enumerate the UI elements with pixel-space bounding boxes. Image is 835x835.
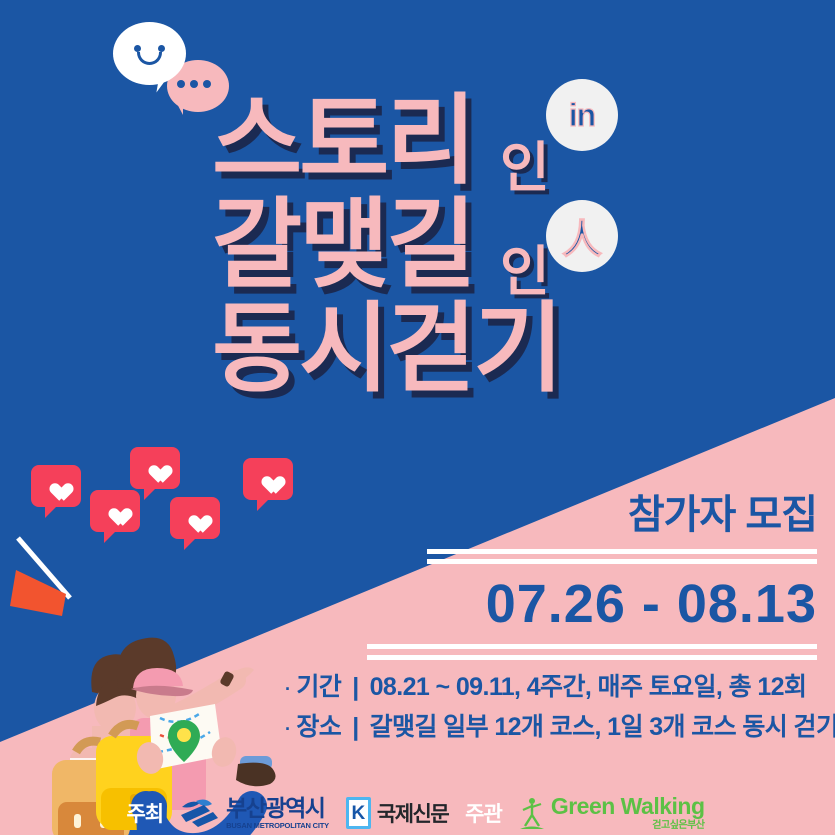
- recruitment-panel: 참가자 모집 07.26 - 08.13: [297, 492, 817, 660]
- title-line-1: 스토리 인: [0, 88, 835, 192]
- heart-notification-icon: [243, 458, 293, 500]
- event-details: · 기간 | 08.21 ~ 09.11, 4주간, 매주 토요일, 총 12회…: [285, 668, 830, 748]
- detail-value: 갈맺길 일부 12개 코스, 1일 3개 코스 동시 걷기: [370, 708, 835, 746]
- recruitment-title: 참가자 모집: [297, 492, 817, 538]
- detail-value: 08.21 ~ 09.11, 4주간, 매주 토요일, 총 12회: [370, 668, 807, 706]
- linkedin-icon: in: [569, 97, 595, 134]
- detail-row-period: · 기간 | 08.21 ~ 09.11, 4주간, 매주 토요일, 총 12회: [285, 668, 830, 708]
- title-line-2: 갈맺길 인: [0, 192, 835, 296]
- smiley-eye-right-icon: [158, 45, 165, 52]
- divider-rule: [367, 644, 817, 649]
- smiley-eye-left-icon: [134, 45, 141, 52]
- ellipsis-dots-icon: [177, 80, 211, 88]
- green-walking-logo: Green Walking 걷고싶은부산: [519, 795, 705, 831]
- host-label: 주최: [126, 798, 163, 828]
- walking-person-icon: [519, 796, 545, 830]
- footer-logos: 주최 부산광역시 BUSAN METROPOLITAN CITY K 국제신문 …: [0, 795, 835, 831]
- promotional-poster: 스토리 인 갈맺길 인 동시걷기 in 人: [0, 0, 835, 835]
- kukje-newspaper-logo: K 국제신문: [346, 797, 448, 829]
- busan-name-en: BUSAN METROPOLITAN CITY: [226, 822, 329, 830]
- title-line-3-main: 동시걷기: [212, 296, 561, 400]
- heart-notification-icon: [31, 465, 81, 507]
- detail-label: 기간: [296, 668, 341, 706]
- divider-rule: [427, 549, 817, 554]
- title-line-2-main: 갈맺길: [212, 192, 473, 296]
- busan-emblem-icon: [180, 798, 220, 828]
- bullet-icon: ·: [285, 670, 290, 708]
- detail-separator: |: [347, 708, 363, 746]
- title-line-1-main: 스토리: [212, 88, 473, 192]
- hikers-illustration: [0, 520, 320, 835]
- detail-label: 장소: [296, 708, 341, 746]
- person-badge: 人: [546, 200, 618, 272]
- organizer-label: 주관: [465, 798, 502, 828]
- busan-city-logo: 부산광역시 BUSAN METROPOLITAN CITY: [180, 797, 329, 830]
- kukje-k-icon: K: [346, 797, 371, 829]
- detail-row-location: · 장소 | 갈맺길 일부 12개 코스, 1일 3개 코스 동시 걷기: [285, 708, 830, 748]
- heart-notification-icon: [130, 447, 180, 489]
- green-walking-subtitle: 걷고싶은부산: [652, 821, 704, 831]
- recruitment-date-range: 07.26 - 08.13: [297, 572, 817, 636]
- kukje-name: 국제신문: [377, 798, 448, 828]
- detail-separator: |: [347, 668, 363, 706]
- divider-rule: [427, 559, 817, 564]
- linkedin-badge: in: [546, 79, 618, 151]
- busan-name-kr: 부산광역시: [226, 797, 329, 820]
- person-character-icon: 人: [562, 207, 602, 265]
- title-line-3: 동시걷기: [0, 296, 835, 400]
- bullet-icon: ·: [285, 710, 290, 748]
- kukje-k-letter: K: [352, 804, 366, 823]
- divider-rule: [367, 655, 817, 660]
- poster-title: 스토리 인 갈맺길 인 동시걷기: [0, 88, 835, 400]
- green-walking-name: Green Walking: [551, 795, 705, 818]
